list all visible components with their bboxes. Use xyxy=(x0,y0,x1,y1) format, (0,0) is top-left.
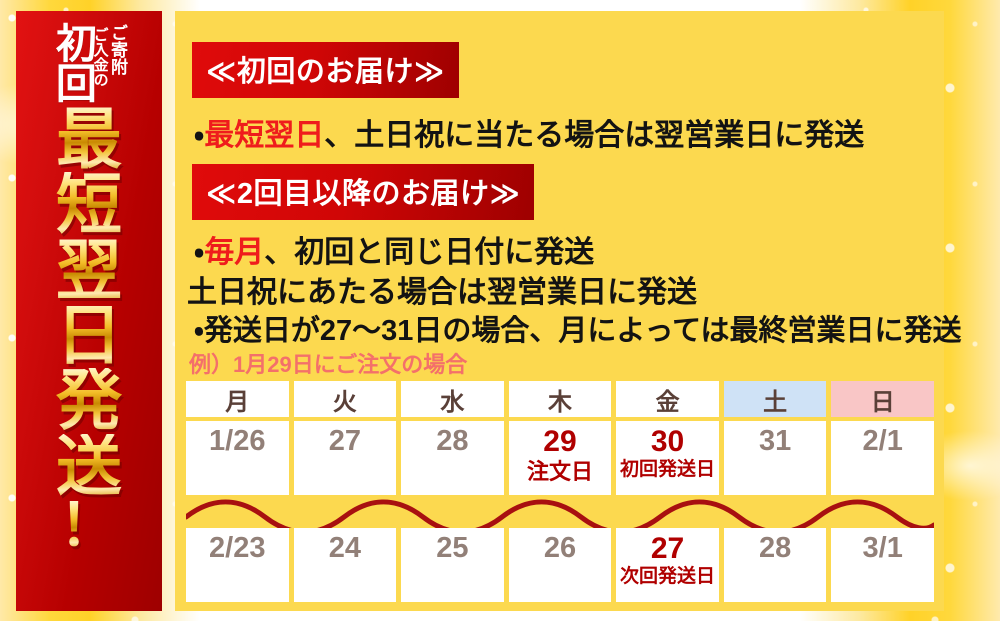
calendar-note-first-ship-day: 初回発送日 xyxy=(620,459,715,481)
promo-banner: 初回 ご寄附 ご入金の 最 短 翌 日 発 送 ！ ≪初回のお届け≫ ・最短翌日… xyxy=(0,0,1000,621)
calendar-cell-r1c4-order-day: 29 注文日 xyxy=(509,421,612,495)
subsequent-bullet-line-2: 土日祝にあたる場合は翌営業日に発送 xyxy=(187,267,697,311)
calendar-cell-r2c5-next-ship-day: 27 次回発送日 xyxy=(616,528,719,602)
calendar-cell-r1c6: 31 xyxy=(724,421,827,495)
calendar-note-order-day: 注文日 xyxy=(527,459,593,484)
banner-top-group: 初回 ご寄附 ご入金の xyxy=(16,17,162,111)
calendar-cell-r1c3: 28 xyxy=(401,421,504,495)
calendar-date-r1c2: 27 xyxy=(329,426,361,456)
banner-exclamation-mark: ！ xyxy=(59,501,119,549)
banner-shokai-label: 初回 xyxy=(52,22,91,102)
banner-headline-char-2: 翌 xyxy=(56,238,122,303)
banner-subtext-group: ご寄附 ご入金の xyxy=(92,24,126,87)
banner-headline-group: 最 短 翌 日 発 送 ！ xyxy=(16,107,162,607)
calendar-date-r2c1: 2/23 xyxy=(209,533,265,563)
emphasis-monthly: 毎月 xyxy=(204,236,264,269)
calendar: 月 火 水 木 金 土 日 1/26 27 28 29 xyxy=(186,381,934,602)
subsequent-bullet-line-1: ・毎月、初回と同じ日付に発送 xyxy=(194,227,594,271)
calendar-date-r2c3: 25 xyxy=(436,533,468,563)
calendar-date-r2c7: 3/1 xyxy=(863,533,903,563)
calendar-header-wed: 水 xyxy=(401,381,504,417)
calendar-cell-r2c6: 28 xyxy=(724,528,827,602)
calendar-date-r2c5: 27 xyxy=(651,533,684,565)
calendar-header-tue: 火 xyxy=(294,381,397,417)
banner-headline-char-5: 送 xyxy=(56,434,122,499)
calendar-header-thu: 木 xyxy=(509,381,612,417)
subsequent-rest-1: 、初回と同じ日付に発送 xyxy=(264,236,594,269)
calendar-date-r2c6: 28 xyxy=(759,533,791,563)
emphasis-soonest-next-day: 最短翌日 xyxy=(204,119,324,152)
subsequent-bullet-line-3: ・発送日が27〜31日の場合、月によっては最終営業日に発送 xyxy=(194,307,962,349)
calendar-date-r1c1: 1/26 xyxy=(209,426,265,456)
calendar-note-next-ship-day: 次回発送日 xyxy=(620,566,715,588)
calendar-row-1: 1/26 27 28 29 注文日 30 初回発送日 31 xyxy=(186,421,934,495)
first-delivery-bullet-line: ・最短翌日、土日祝に当たる場合は翌営業日に発送 xyxy=(194,110,864,154)
banner-headline-char-0: 最 xyxy=(56,107,122,172)
calendar-cell-r1c2: 27 xyxy=(294,421,397,495)
banner-headline-char-4: 発 xyxy=(56,368,122,433)
example-note: 例）1月29日にご注文の場合 xyxy=(189,347,467,379)
calendar-date-r2c2: 24 xyxy=(329,533,361,563)
calendar-cell-r1c1: 1/26 xyxy=(186,421,289,495)
calendar-cell-r1c5-first-ship-day: 30 初回発送日 xyxy=(616,421,719,495)
calendar-wave-divider xyxy=(186,495,934,528)
bullet-marker-3: ・ xyxy=(194,315,204,347)
calendar-cell-r2c1: 2/23 xyxy=(186,528,289,602)
calendar-date-r1c4: 29 xyxy=(543,426,576,458)
first-delivery-rest: 、土日祝に当たる場合は翌営業日に発送 xyxy=(324,119,864,152)
calendar-date-r1c3: 28 xyxy=(436,426,468,456)
banner-headline-char-1: 短 xyxy=(56,172,122,237)
subsequent-rest-3: 発送日が27〜31日の場合、月によっては最終営業日に発送 xyxy=(204,315,962,347)
calendar-date-r1c5: 30 xyxy=(651,426,684,458)
calendar-header-mon: 月 xyxy=(186,381,289,417)
calendar-date-r1c7: 2/1 xyxy=(863,426,903,456)
content-panel: ≪初回のお届け≫ ・最短翌日、土日祝に当たる場合は翌営業日に発送 ≪2回目以降の… xyxy=(175,11,944,611)
bullet-marker-1: ・ xyxy=(194,119,204,152)
calendar-cell-r1c7: 2/1 xyxy=(831,421,934,495)
bullet-marker-2: ・ xyxy=(194,236,204,269)
calendar-cell-r2c3: 25 xyxy=(401,528,504,602)
banner-subtext-nyukin: ご入金の xyxy=(92,27,107,87)
left-vertical-banner: 初回 ご寄附 ご入金の 最 短 翌 日 発 送 ！ xyxy=(16,11,162,611)
calendar-cell-r2c2: 24 xyxy=(294,528,397,602)
banner-headline-char-3: 日 xyxy=(56,303,122,368)
calendar-header-sun: 日 xyxy=(831,381,934,417)
section-heading-subsequent-delivery: ≪2回目以降のお届け≫ xyxy=(192,164,534,220)
calendar-header-fri: 金 xyxy=(616,381,719,417)
calendar-row-2: 2/23 24 25 26 27 次回発送日 28 xyxy=(186,528,934,602)
calendar-cell-r2c7: 3/1 xyxy=(831,528,934,602)
calendar-date-r1c6: 31 xyxy=(759,426,791,456)
calendar-cell-r2c4: 26 xyxy=(509,528,612,602)
calendar-header-sat: 土 xyxy=(724,381,827,417)
banner-subtext-kifu: ご寄附 xyxy=(109,24,126,75)
calendar-header-row: 月 火 水 木 金 土 日 xyxy=(186,381,934,417)
calendar-date-r2c4: 26 xyxy=(544,533,576,563)
section-heading-first-delivery: ≪初回のお届け≫ xyxy=(192,42,459,98)
